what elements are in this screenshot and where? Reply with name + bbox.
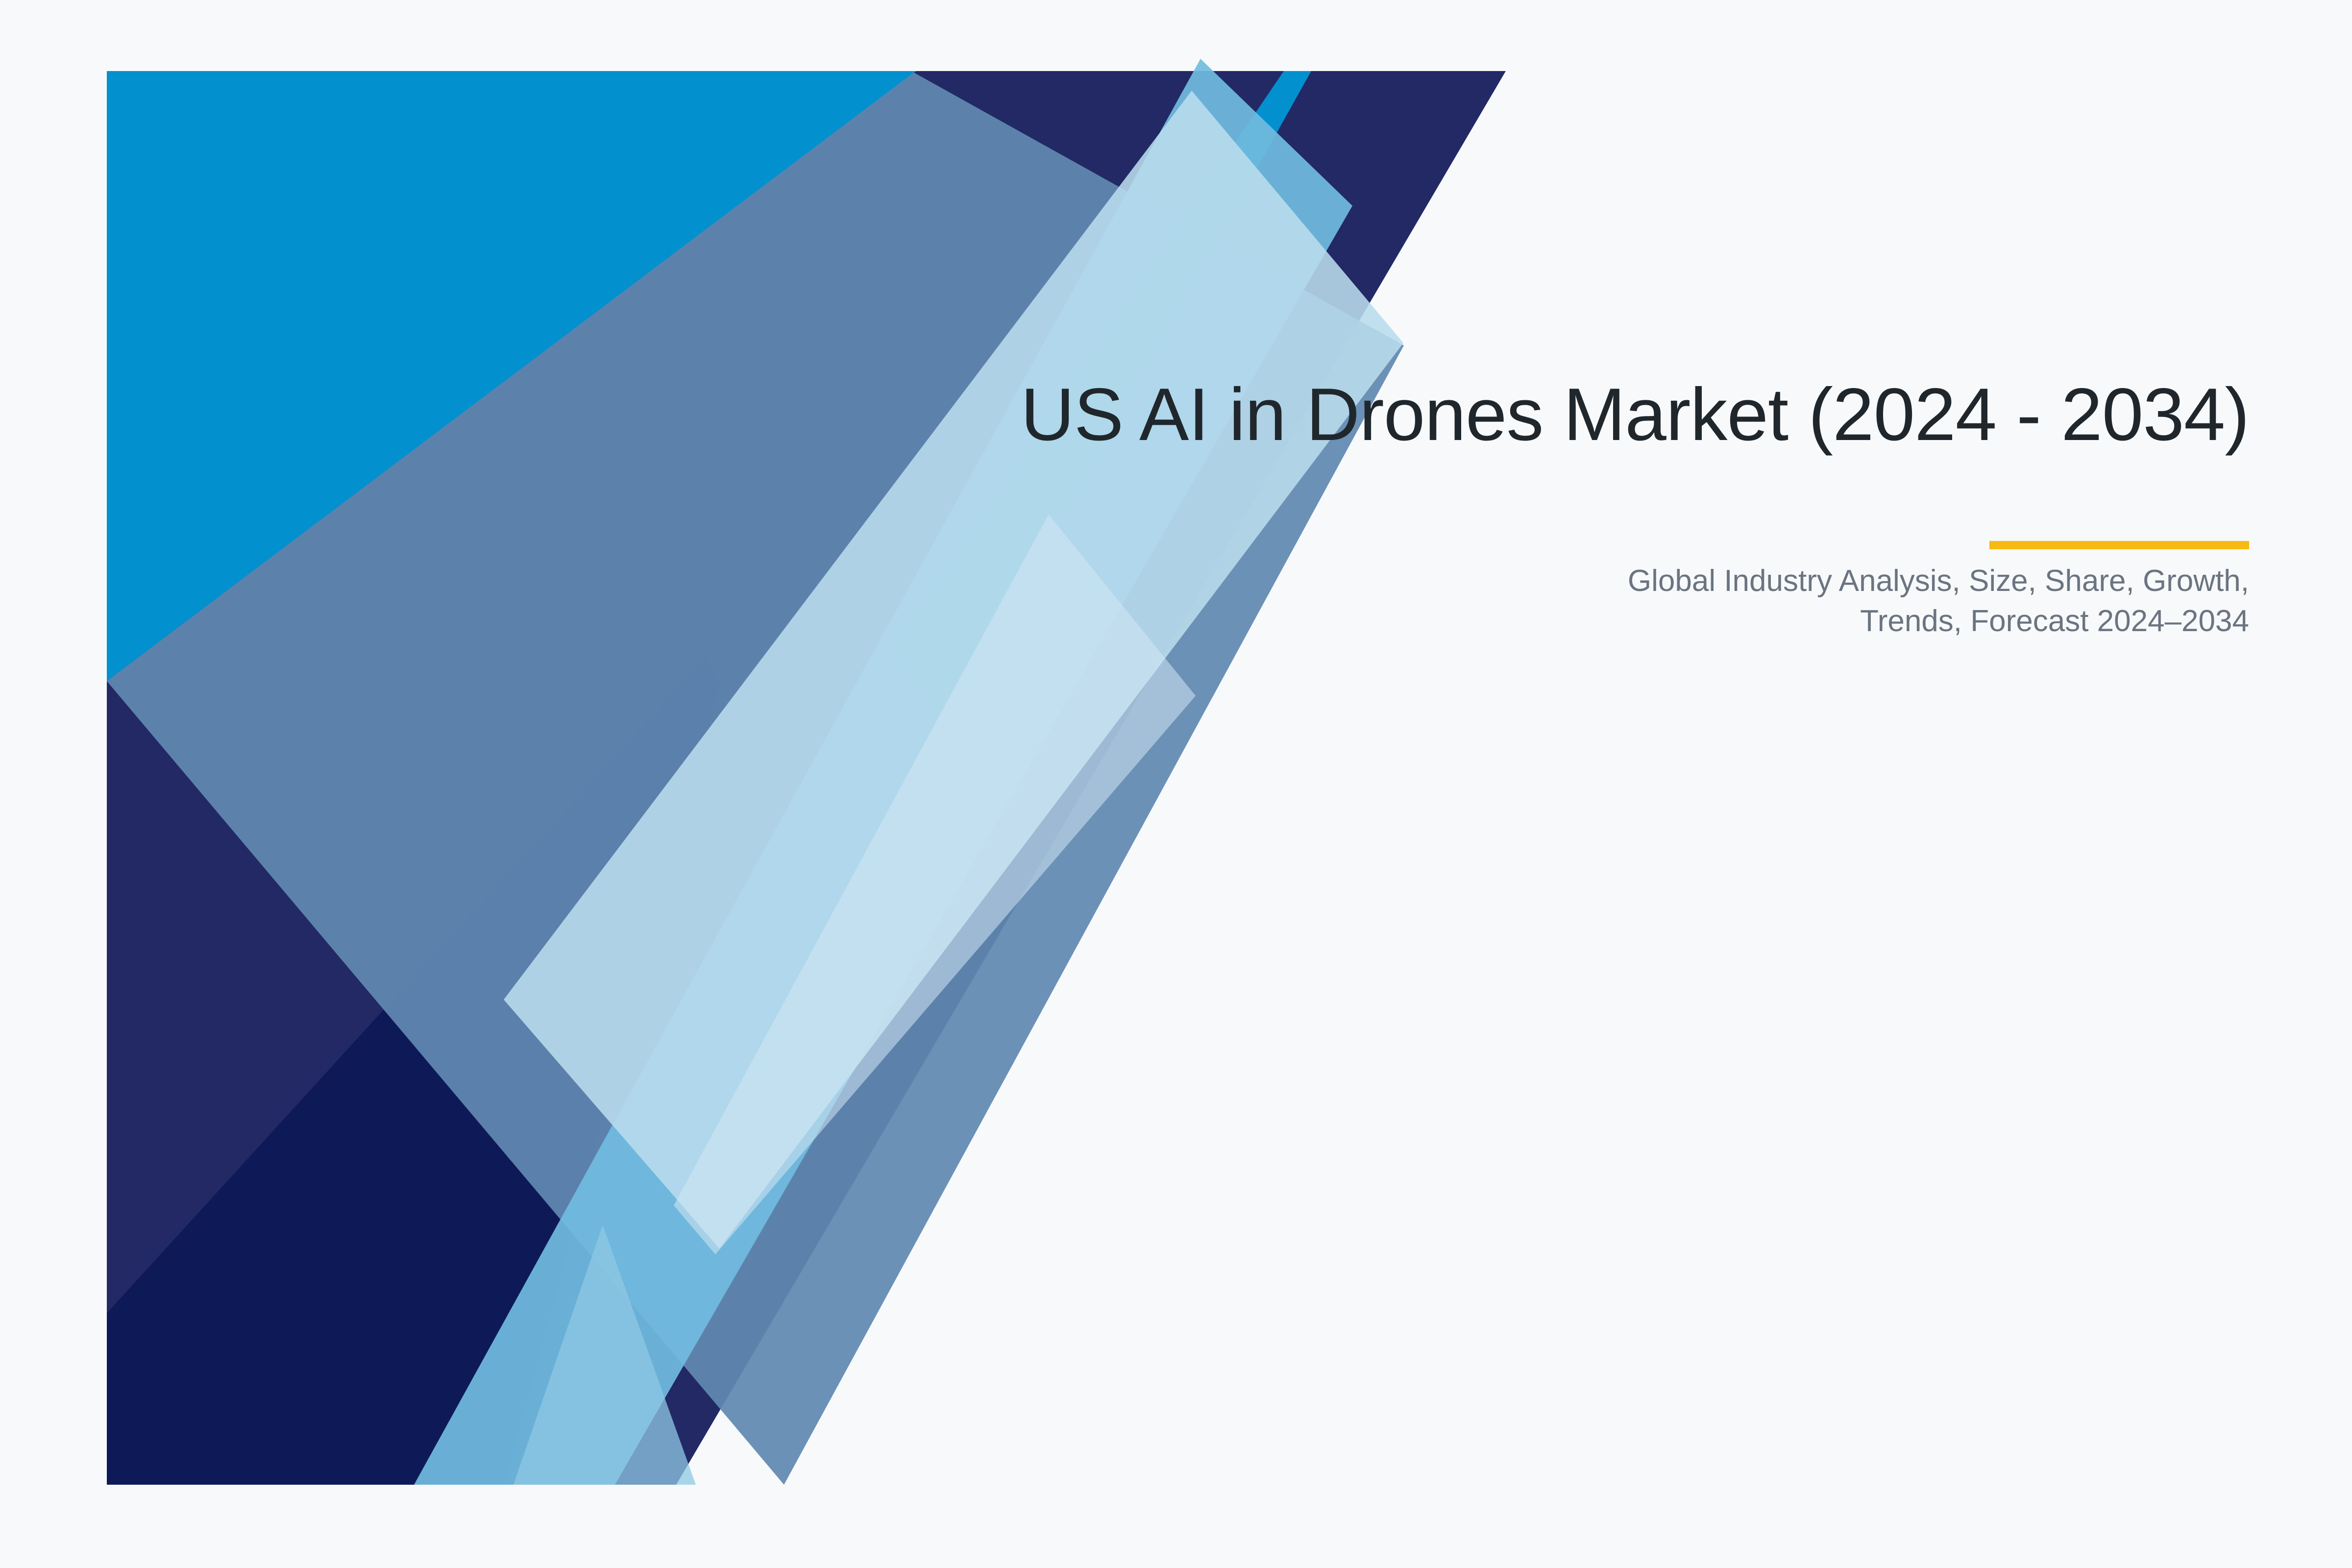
title-with-underline: US AI in Drones Market (2024 - 2034) <box>980 372 2249 457</box>
sky-blue-diagonal-beam <box>414 59 1352 1485</box>
page-title: US AI in Drones Market (2024 - 2034) <box>980 372 2249 457</box>
deep-navy-bottom-wedge <box>107 657 720 1485</box>
steel-blue-rotated-panel <box>107 73 1404 1485</box>
title-accent-underline <box>1989 541 2249 549</box>
cover-text-block: US AI in Drones Market (2024 - 2034) Glo… <box>980 372 2249 641</box>
artwork-background <box>0 0 2352 1568</box>
light-blue-bottom-notch <box>514 1225 696 1485</box>
navy-top-band <box>107 71 1506 1485</box>
abstract-geometric-cover-graphic <box>0 0 2352 1568</box>
light-blue-rotated-panel <box>504 91 1403 1249</box>
page-subtitle: Global Industry Analysis, Size, Share, G… <box>1553 457 2249 641</box>
report-cover: US AI in Drones Market (2024 - 2034) Glo… <box>0 0 2352 1568</box>
